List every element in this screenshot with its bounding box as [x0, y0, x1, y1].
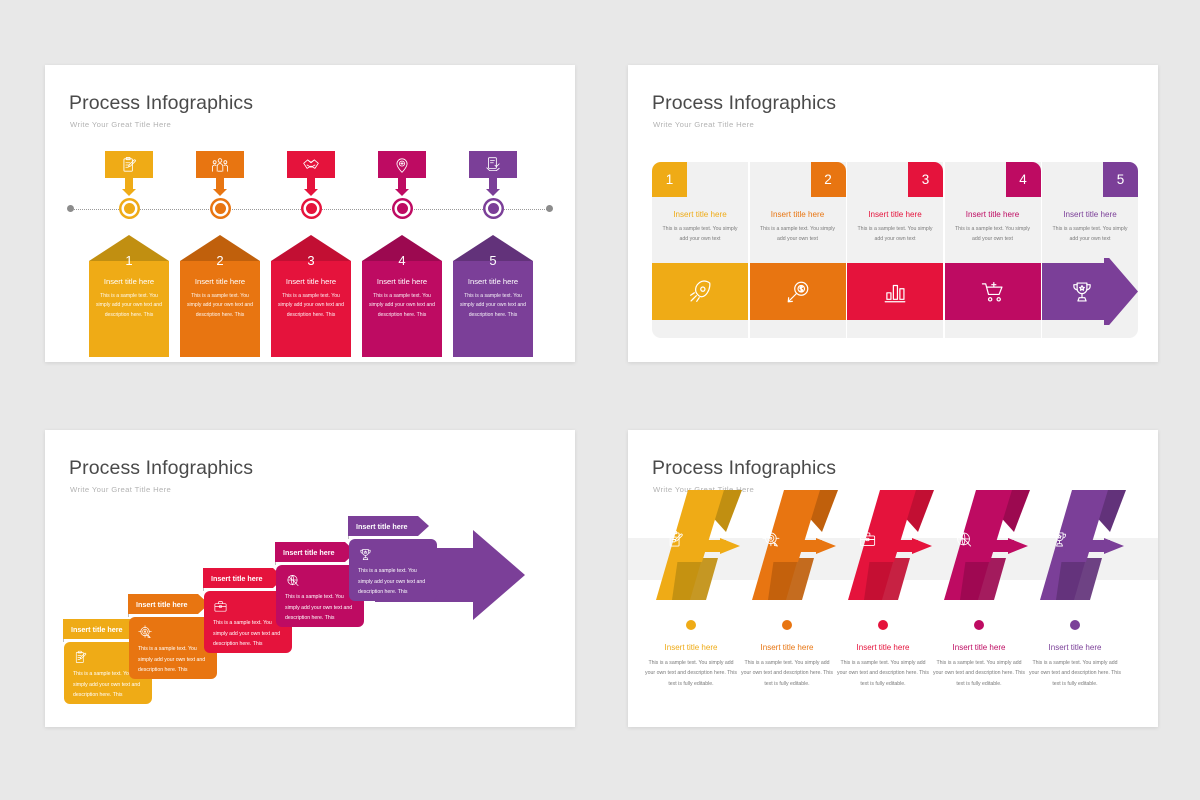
step-column[interactable]: 5 Insert title here This is a sample tex…	[1042, 162, 1138, 338]
global-pin-icon	[954, 530, 973, 549]
step-card[interactable]: 2 Insert title here This is a sample tex…	[180, 235, 260, 357]
slide-panel-numbered-columns[interactable]: Process Infographics Write Your Great Ti…	[628, 65, 1158, 362]
step-title: Insert title here	[356, 522, 408, 531]
step-icon-tab[interactable]	[105, 151, 153, 178]
step-title: Insert title here	[136, 600, 188, 609]
connector-line	[348, 536, 349, 539]
step-description: This is a sample text. You simply add yo…	[854, 224, 936, 244]
step-title: Insert title here	[652, 210, 748, 219]
step-dot	[782, 620, 792, 630]
step-icon-bar[interactable]	[750, 263, 846, 320]
step-number-badge: 4	[1006, 162, 1041, 197]
briefcase-icon	[858, 530, 877, 549]
slide-panel-timeline-arrows[interactable]: Process Infographics Write Your Great Ti…	[45, 65, 575, 362]
target-search-icon	[138, 625, 153, 640]
connector-line	[63, 639, 64, 642]
step-number: 3	[922, 172, 930, 187]
chevron-ribbon-icon[interactable]	[1030, 490, 1140, 600]
step-column[interactable]: 2 Insert title here This is a sample tex…	[750, 162, 846, 338]
step-description: This is a sample text. You simply add yo…	[285, 592, 355, 624]
step-card[interactable]: 4 Insert title here This is a sample tex…	[362, 235, 442, 357]
step-description: This is a sample text. You simply add yo…	[358, 566, 428, 598]
step-number-badge: 5	[1103, 162, 1138, 197]
step-dot	[974, 620, 984, 630]
tab-arrow-head	[122, 189, 136, 196]
step-title: Insert title here	[835, 643, 931, 652]
timeline-end-dot	[546, 205, 553, 212]
step-title: Insert title here	[643, 643, 739, 652]
chevron-ribbon-icon[interactable]	[646, 490, 756, 600]
label-arrow-tip	[418, 516, 429, 536]
step-description: This is a sample text. You simply add yo…	[659, 224, 741, 244]
step-icon	[952, 528, 974, 550]
bar-chart-icon	[882, 279, 908, 305]
step-description: This is a sample text. You simply add yo…	[1049, 224, 1131, 244]
step-icon-tab[interactable]	[469, 151, 517, 178]
step-column[interactable]: 4 Insert title here This is a sample tex…	[945, 162, 1041, 338]
step-title: Insert title here	[931, 643, 1027, 652]
global-pin-icon	[285, 573, 300, 588]
step-title: Insert title here	[369, 277, 435, 286]
card-body: Insert title here This is a sample text.…	[453, 261, 533, 357]
step-number: 1	[89, 253, 169, 268]
step-number: 3	[271, 253, 351, 268]
target-search-icon	[762, 530, 781, 549]
timeline-marker[interactable]	[483, 198, 504, 219]
connector-line	[275, 562, 276, 565]
step-title: Insert title here	[96, 277, 162, 286]
step-number: 4	[362, 253, 442, 268]
shopping-cart-icon	[980, 279, 1006, 305]
step-dot	[1070, 620, 1080, 630]
step-number: 4	[1019, 172, 1027, 187]
step-title: Insert title here	[71, 625, 123, 634]
step-icon	[856, 528, 878, 550]
step-label[interactable]: Insert title here	[348, 516, 418, 536]
step-number-badge: 3	[908, 162, 943, 197]
timeline-marker[interactable]	[301, 198, 322, 219]
step-title: Insert title here	[739, 643, 835, 652]
step-icon	[1048, 528, 1070, 550]
card-body: Insert title here This is a sample text.…	[362, 261, 442, 357]
step-label[interactable]: Insert title here	[275, 542, 345, 562]
step-title: Insert title here	[750, 210, 846, 219]
step-description: This is a sample text. You simply add yo…	[369, 292, 435, 320]
step-card[interactable]: 1 Insert title here This is a sample tex…	[89, 235, 169, 357]
step-number: 2	[180, 253, 260, 268]
hand-tablet-icon	[484, 156, 502, 174]
location-pin-icon	[393, 156, 411, 174]
card-body: Insert title here This is a sample text.…	[180, 261, 260, 357]
step-description: This is a sample text. You simply add yo…	[931, 658, 1027, 689]
slide-deck-canvas: Process Infographics Write Your Great Ti…	[0, 0, 1200, 800]
step-label[interactable]: Insert title here	[128, 594, 198, 614]
slide-panel-staircase-ribbons[interactable]: Process Infographics Write Your Great Ti…	[45, 430, 575, 727]
card-body: Insert title here This is a sample text.…	[271, 261, 351, 357]
chevron-ribbon-icon[interactable]	[838, 490, 948, 600]
chevron-ribbon-icon[interactable]	[742, 490, 852, 600]
step-icon-tab[interactable]	[287, 151, 335, 178]
trophy-icon	[358, 547, 373, 562]
timeline-marker[interactable]	[392, 198, 413, 219]
step-icon-arrow[interactable]	[1042, 258, 1138, 325]
step-description: This is a sample text. You simply add yo…	[1027, 658, 1123, 689]
timeline-marker[interactable]	[210, 198, 231, 219]
chevron-diagram: Insert title hereThis is a sample text. …	[628, 430, 1158, 727]
step-description: This is a sample text. You simply add yo…	[213, 618, 283, 650]
people-group-icon	[211, 156, 229, 174]
card-body: Insert title here This is a sample text.…	[89, 261, 169, 357]
step-description: This is a sample text. You simply add yo…	[643, 658, 739, 689]
rocket-icon	[687, 279, 713, 305]
step-icon-bar[interactable]	[945, 263, 1041, 320]
step-description: This is a sample text. You simply add yo…	[952, 224, 1034, 244]
step-description: This is a sample text. You simply add yo…	[757, 224, 839, 244]
clipboard-pencil-icon	[120, 156, 138, 174]
step-title: Insert title here	[847, 210, 943, 219]
trophy-icon	[1069, 279, 1095, 305]
timeline-marker[interactable]	[119, 198, 140, 219]
step-dot	[686, 620, 696, 630]
step-icon-bar[interactable]	[847, 263, 943, 320]
step-title: Insert title here	[278, 277, 344, 286]
step-description: This is a sample text. You simply add yo…	[278, 292, 344, 320]
staircase-diagram: Insert title here This is a sample text.…	[45, 430, 575, 727]
step-box[interactable]: This is a sample text. You simply add yo…	[349, 539, 437, 601]
step-icon-bar[interactable]	[652, 263, 748, 320]
step-title: Insert title here	[211, 574, 263, 583]
briefcase-icon	[213, 599, 228, 614]
step-icon	[664, 528, 686, 550]
step-icon-tab[interactable]	[196, 151, 244, 178]
step-description: This is a sample text. You simply add yo…	[739, 658, 835, 689]
step-description: This is a sample text. You simply add yo…	[835, 658, 931, 689]
step-label[interactable]: Insert title here	[63, 619, 133, 639]
step-number: 5	[453, 253, 533, 268]
step-icon-tab[interactable]	[378, 151, 426, 178]
tab-arrow-head	[213, 189, 227, 196]
step-description: This is a sample text. You simply add yo…	[187, 292, 253, 320]
connector-line	[203, 588, 204, 591]
timeline-diagram: 1 Insert title here This is a sample tex…	[45, 65, 575, 362]
connector-line	[128, 614, 129, 617]
trophy-icon	[1050, 530, 1069, 549]
handshake-icon	[302, 156, 320, 174]
column-cards-diagram: 1 Insert title here This is a sample tex…	[628, 65, 1158, 362]
timeline-start-dot	[67, 205, 74, 212]
step-number-badge: 1	[652, 162, 687, 197]
step-column[interactable]: 1 Insert title here This is a sample tex…	[652, 162, 748, 338]
step-title: Insert title here	[1042, 210, 1138, 219]
step-number: 5	[1117, 172, 1125, 187]
step-icon	[760, 528, 782, 550]
slide-panel-chevron-ribbons[interactable]: Process Infographics Write Your Great Ti…	[628, 430, 1158, 727]
clipboard-pencil-icon	[73, 650, 88, 665]
step-number-badge: 2	[811, 162, 846, 197]
step-description: This is a sample text. You simply add yo…	[138, 644, 208, 676]
step-description: This is a sample text. You simply add yo…	[460, 292, 526, 320]
step-description: This is a sample text. You simply add yo…	[96, 292, 162, 320]
step-label[interactable]: Insert title here	[203, 568, 273, 588]
chevron-ribbon-icon[interactable]	[934, 490, 1044, 600]
step-title: Insert title here	[460, 277, 526, 286]
step-title: Insert title here	[1027, 643, 1123, 652]
step-title: Insert title here	[187, 277, 253, 286]
money-target-icon	[785, 279, 811, 305]
step-number: 2	[824, 172, 832, 187]
clipboard-pencil-icon	[666, 530, 685, 549]
step-column[interactable]: 3 Insert title here This is a sample tex…	[847, 162, 943, 338]
tab-arrow-head	[395, 189, 409, 196]
step-card[interactable]: 3 Insert title here This is a sample tex…	[271, 235, 351, 357]
step-title: Insert title here	[945, 210, 1041, 219]
step-dot	[878, 620, 888, 630]
step-number: 1	[666, 172, 674, 187]
step-title: Insert title here	[283, 548, 335, 557]
tab-arrow-head	[486, 189, 500, 196]
tab-arrow-head	[304, 189, 318, 196]
step-card[interactable]: 5 Insert title here This is a sample tex…	[453, 235, 533, 357]
